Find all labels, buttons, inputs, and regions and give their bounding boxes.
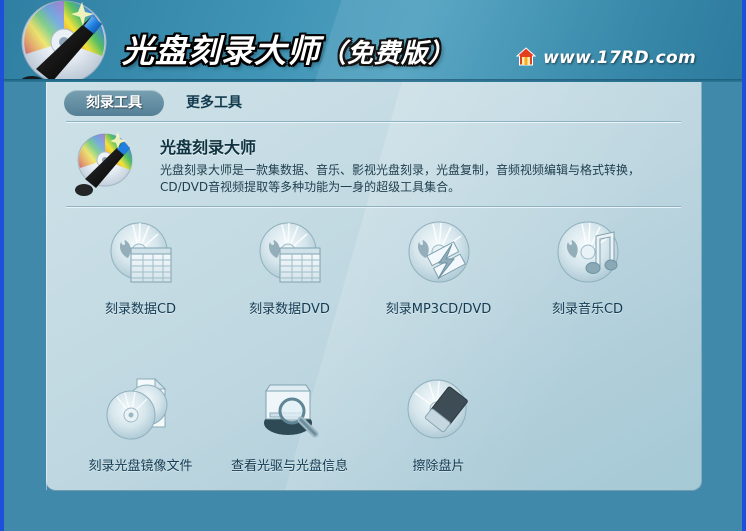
website-url: www.17RD.com [543,48,696,68]
tool-label: 刻录数据DVD [249,298,330,317]
tool-burn-iso[interactable]: 刻录光盘镜像文件 [66,375,215,474]
tool-grid: 刻录数据CD [66,218,681,474]
tool-label: 查看光驱与光盘信息 [231,455,348,474]
disc-marker-logo-icon [6,0,124,82]
tab-more-tools[interactable]: 更多工具 [164,90,264,116]
page-title-suffix: （免费版） [320,39,455,69]
burn-mp3-icon [403,218,475,290]
website-link[interactable]: www.17RD.com [516,46,696,70]
tool-label: 刻录音乐CD [552,298,623,317]
tool-row-1: 刻录数据CD [66,218,681,317]
tool-erase-disc[interactable]: 擦除盘片 [364,375,513,474]
burn-audio-cd-icon [552,218,624,290]
drive-info-icon [254,375,326,447]
tool-burn-audio-cd[interactable]: 刻录音乐CD [513,218,662,317]
tool-burn-data-dvd[interactable]: 刻录数据DVD [215,218,364,317]
burn-iso-icon [105,375,177,447]
application-window: 光盘刻录大师（免费版） www.17RD.com 刻录工具 更多工具 [0,0,746,531]
intro-title: 光盘刻录大师 [160,134,256,158]
tab-burning-tools[interactable]: 刻录工具 [64,90,164,116]
tool-label: 擦除盘片 [412,455,464,474]
home-icon [516,47,536,70]
divider-bottom [66,206,681,208]
tool-drive-info[interactable]: 查看光驱与光盘信息 [215,375,364,474]
burn-data-cd-icon [105,218,177,290]
tab-bar: 刻录工具 更多工具 [64,90,264,116]
product-intro: 光盘刻录大师 光盘刻录大师是一款集数据、音乐、影视光盘刻录，光盘复制，音频视频编… [66,130,681,202]
tool-burn-data-cd[interactable]: 刻录数据CD [66,218,215,317]
divider-top [66,121,681,123]
tool-label: 刻录数据CD [105,298,176,317]
tool-burn-mp3[interactable]: 刻录MP3CD/DVD [364,218,513,317]
page-title: 光盘刻录大师（免费版） [122,26,455,72]
intro-description: 光盘刻录大师是一款集数据、音乐、影视光盘刻录，光盘复制，音频视频编辑与格式转换，… [160,162,680,196]
tool-row-2: 刻录光盘镜像文件 查看光驱与光盘信息 [66,375,681,474]
erase-disc-icon [403,375,475,447]
app-header: 光盘刻录大师（免费版） www.17RD.com [4,0,742,82]
disc-marker-icon [71,130,147,198]
page-title-main: 光盘刻录大师 [122,32,320,70]
tool-label: 刻录光盘镜像文件 [88,455,192,474]
tool-label: 刻录MP3CD/DVD [386,298,491,317]
panel-left-edge [46,82,47,490]
burn-data-dvd-icon [254,218,326,290]
